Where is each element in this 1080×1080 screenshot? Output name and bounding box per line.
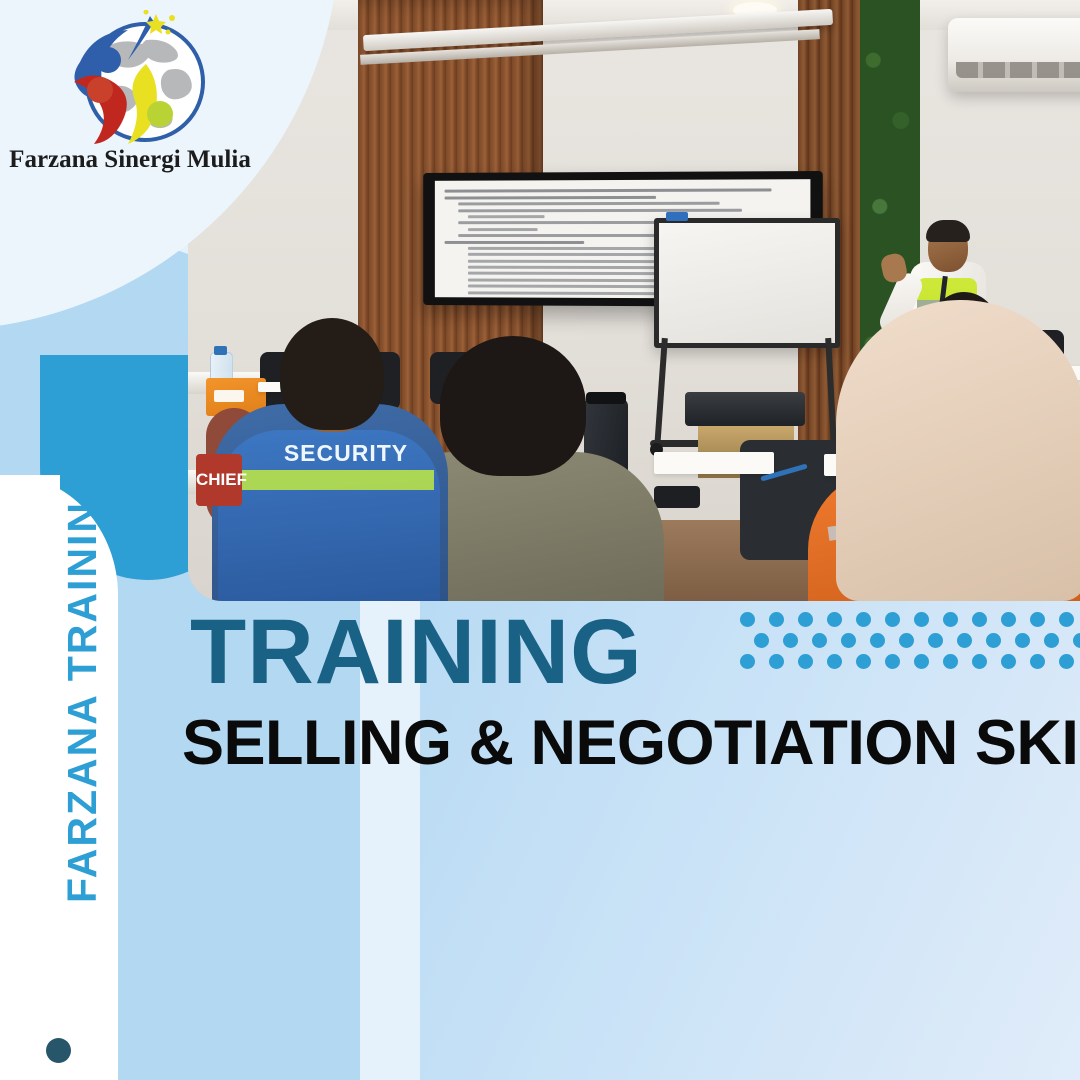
dot xyxy=(1030,612,1045,627)
dot xyxy=(827,654,842,669)
dot xyxy=(1030,654,1045,669)
paper-mid-b xyxy=(654,452,774,474)
dot xyxy=(986,633,1001,648)
dot xyxy=(1015,633,1030,648)
dot xyxy=(769,654,784,669)
mobile-phone xyxy=(654,486,700,508)
thermos-lid xyxy=(586,392,626,404)
trainer-hair xyxy=(926,220,970,242)
participant-chief-badge: CHIEF xyxy=(196,454,242,506)
dot xyxy=(885,612,900,627)
dot xyxy=(885,654,900,669)
dot xyxy=(899,633,914,648)
dot xyxy=(827,612,842,627)
participant-security-vest-stripe xyxy=(224,470,434,490)
participant-security-head xyxy=(280,318,384,430)
dot xyxy=(740,612,755,627)
dot xyxy=(1059,654,1074,669)
dot xyxy=(769,612,784,627)
dot xyxy=(914,654,929,669)
dot xyxy=(783,633,798,648)
dot xyxy=(914,612,929,627)
participant-badge-text: CHIEF xyxy=(196,454,242,490)
dot-grid-decoration xyxy=(740,612,1080,670)
globe-people-star-logo-icon xyxy=(50,10,240,150)
vertical-brand-label: FARZANA TRAINING xyxy=(52,473,112,903)
dot xyxy=(841,633,856,648)
dot xyxy=(1001,612,1016,627)
whiteboard-magnet xyxy=(666,212,688,221)
side-equipment xyxy=(685,392,805,426)
dot xyxy=(972,654,987,669)
brand-accent-dot xyxy=(46,1038,71,1063)
dot xyxy=(972,612,987,627)
dot xyxy=(870,633,885,648)
participant-hijab-headscarf xyxy=(836,300,1080,601)
dot xyxy=(754,633,769,648)
dot xyxy=(1001,654,1016,669)
dot xyxy=(812,633,827,648)
participant-olive-head xyxy=(440,336,586,476)
air-conditioner-vent xyxy=(956,62,1080,78)
dot xyxy=(1059,612,1074,627)
company-name: Farzana Sinergi Mulia xyxy=(0,146,260,174)
page-title: SELLING & NEGOTIATION SKILL xyxy=(182,712,1080,775)
water-bottle-cap-back xyxy=(214,346,227,355)
dot xyxy=(856,654,871,669)
white-side-panel-edge xyxy=(0,475,60,1080)
dot xyxy=(856,612,871,627)
poster-canvas: SECURITY CHIEF xyxy=(0,0,1080,1080)
air-conditioner-unit xyxy=(948,18,1080,92)
page-title-eyebrow: TRAINING xyxy=(190,606,643,698)
dot xyxy=(1073,633,1080,648)
participant-vest-text: SECURITY xyxy=(266,440,426,467)
dot xyxy=(928,633,943,648)
dot xyxy=(1044,633,1059,648)
dot xyxy=(957,633,972,648)
dot xyxy=(943,654,958,669)
dot xyxy=(943,612,958,627)
dot xyxy=(740,654,755,669)
dot xyxy=(798,612,813,627)
dot xyxy=(798,654,813,669)
whiteboard xyxy=(654,218,840,348)
classroom-training-photo: SECURITY CHIEF xyxy=(188,0,1080,601)
